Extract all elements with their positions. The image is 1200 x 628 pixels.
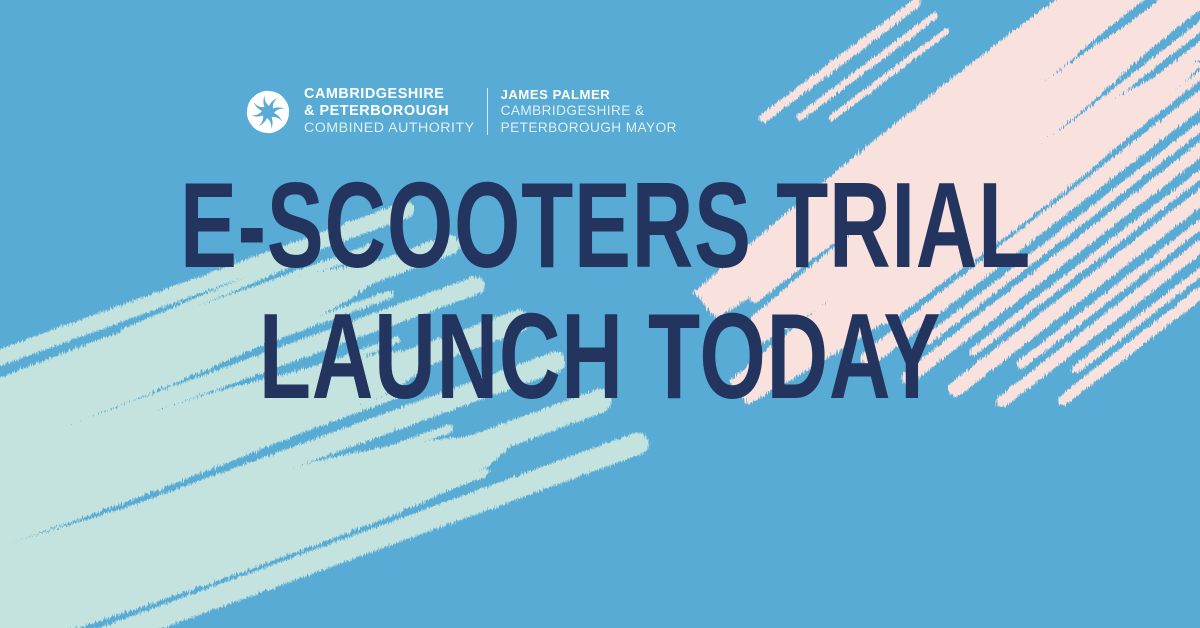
mayor-title-line-2: PETERBOROUGH MAYOR bbox=[501, 120, 677, 137]
headline-line-2: LAUNCH TODAY bbox=[180, 297, 1020, 417]
authority-line-2: & PETERBOROUGH bbox=[304, 103, 475, 120]
authority-line-1: CAMBRIDGESHIRE bbox=[304, 86, 475, 103]
poster-canvas: CAMBRIDGESHIRE & PETERBOROUGH COMBINED A… bbox=[0, 0, 1200, 628]
headline-line-1: E-SCOOTERS TRIAL bbox=[180, 166, 1020, 286]
authority-line-3: COMBINED AUTHORITY bbox=[304, 120, 475, 137]
combined-authority-wordmark: CAMBRIDGESHIRE & PETERBOROUGH COMBINED A… bbox=[304, 86, 487, 137]
mayor-title-line-1: CAMBRIDGESHIRE & bbox=[501, 103, 677, 120]
mayor-name: JAMES PALMER bbox=[501, 87, 677, 103]
headline-block: E-SCOOTERS TRIAL LAUNCH TODAY bbox=[0, 166, 1200, 416]
logo-lockup[interactable]: CAMBRIDGESHIRE & PETERBOROUGH COMBINED A… bbox=[243, 86, 677, 137]
mayor-wordmark: JAMES PALMER CAMBRIDGESHIRE & PETERBOROU… bbox=[488, 87, 677, 136]
combined-authority-pinwheel-icon bbox=[243, 87, 293, 137]
